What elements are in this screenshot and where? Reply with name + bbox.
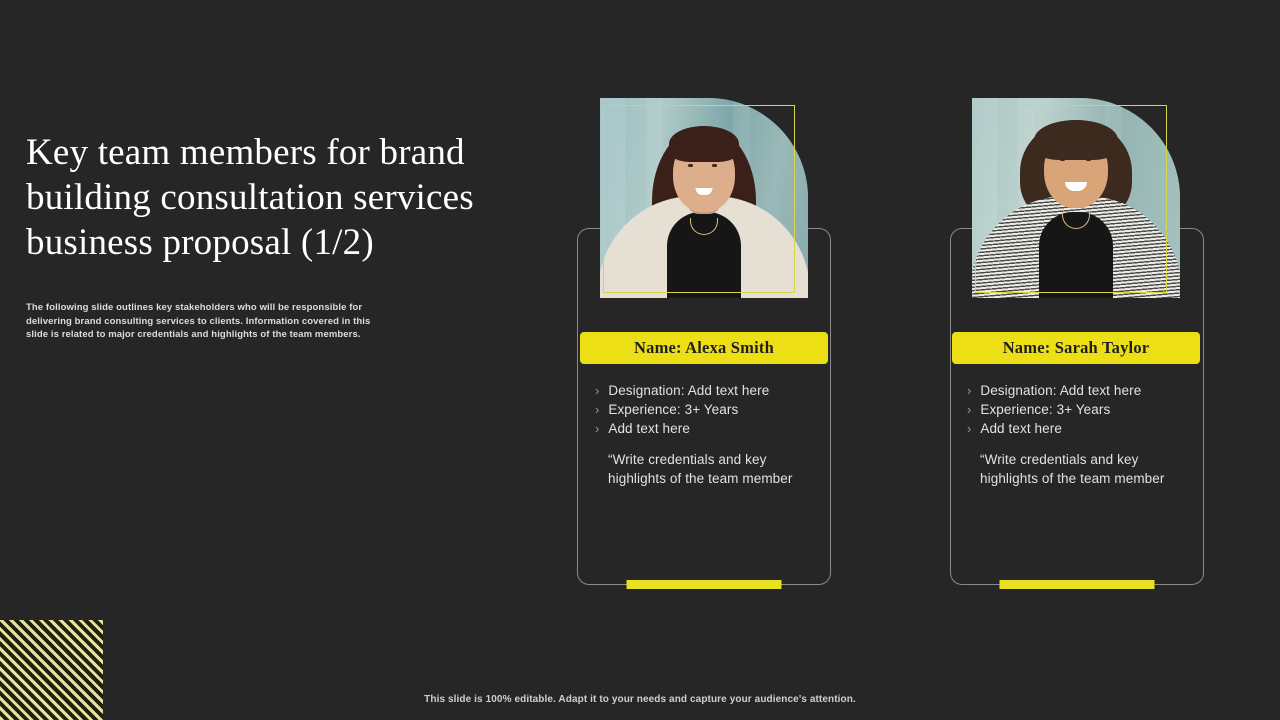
member-photo-2 bbox=[972, 98, 1180, 298]
photo-arch-shape bbox=[600, 98, 808, 298]
chevron-right-icon: › bbox=[595, 381, 599, 400]
title-block: Key team members for brand building cons… bbox=[26, 130, 546, 342]
member-name-banner-2: Name: Sarah Taylor bbox=[952, 332, 1200, 364]
footer-note: This slide is 100% editable. Adapt it to… bbox=[0, 694, 1280, 705]
eye-right bbox=[712, 164, 717, 167]
card-accent-bar bbox=[627, 580, 782, 589]
card-accent-bar bbox=[1000, 580, 1155, 589]
member-name-label: Name: Sarah Taylor bbox=[1003, 338, 1150, 358]
list-item: › Experience: 3+ Years bbox=[595, 400, 825, 419]
chevron-right-icon: › bbox=[967, 419, 971, 438]
photo-arch-shape bbox=[972, 98, 1180, 298]
member-bullets-1: › Designation: Add text here › Experienc… bbox=[595, 381, 825, 438]
chevron-right-icon: › bbox=[967, 381, 971, 400]
portrait-alexa-smith bbox=[600, 98, 808, 298]
slide-subtitle: The following slide outlines key stakeho… bbox=[26, 301, 376, 342]
member-name-label: Name: Alexa Smith bbox=[634, 338, 774, 358]
member-photo-1 bbox=[600, 98, 808, 298]
member-bullets-2: › Designation: Add text here › Experienc… bbox=[967, 381, 1197, 438]
list-item: › Add text here bbox=[595, 419, 825, 438]
bullet-label: Experience: 3+ Years bbox=[980, 400, 1110, 419]
page-title: Key team members for brand building cons… bbox=[26, 130, 546, 265]
chevron-right-icon: › bbox=[595, 400, 599, 419]
bullet-label: Designation: Add text here bbox=[608, 381, 769, 400]
hair-top-shape bbox=[669, 126, 739, 162]
bullet-label: Add text here bbox=[980, 419, 1062, 438]
list-item: › Add text here bbox=[967, 419, 1197, 438]
list-item: › Experience: 3+ Years bbox=[967, 400, 1197, 419]
chevron-right-icon: › bbox=[595, 419, 599, 438]
chevron-right-icon: › bbox=[967, 400, 971, 419]
list-item: › Designation: Add text here bbox=[595, 381, 825, 400]
list-item: › Designation: Add text here bbox=[967, 381, 1197, 400]
bullet-label: Designation: Add text here bbox=[980, 381, 1141, 400]
bullet-label: Experience: 3+ Years bbox=[608, 400, 738, 419]
slide-canvas: Key team members for brand building cons… bbox=[0, 0, 1280, 720]
diagonal-stripes-decoration bbox=[0, 620, 103, 720]
member-quote-1: “Write credentials and key highlights of… bbox=[608, 450, 808, 488]
member-name-banner-1: Name: Alexa Smith bbox=[580, 332, 828, 364]
bullet-label: Add text here bbox=[608, 419, 690, 438]
portrait-sarah-taylor bbox=[972, 98, 1180, 298]
member-quote-2: “Write credentials and key highlights of… bbox=[980, 450, 1180, 488]
eye-left bbox=[688, 164, 693, 167]
hair-top-shape bbox=[1034, 120, 1118, 160]
eye-left bbox=[1060, 158, 1065, 161]
eye-right bbox=[1086, 158, 1091, 161]
